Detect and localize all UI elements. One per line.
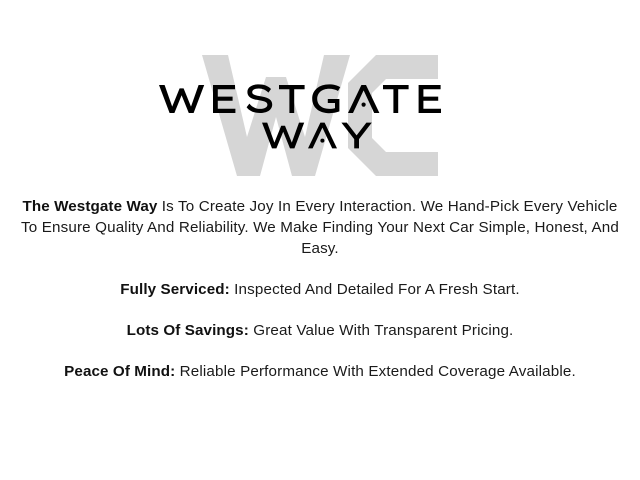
intro-lead: The Westgate Way (22, 198, 157, 215)
feature-peace-of-mind: Peace Of Mind: Reliable Performance With… (20, 361, 620, 382)
feature-text: Great Value With Transparent Pricing. (249, 322, 514, 339)
feature-label: Lots Of Savings: (127, 322, 249, 339)
brand-logo (0, 48, 640, 183)
feature-text: Inspected And Detailed For A Fresh Start… (230, 281, 520, 298)
brand-wordmark-westgate (159, 84, 481, 114)
feature-label: Peace Of Mind: (64, 363, 175, 380)
brand-wordmark-way (262, 122, 378, 149)
feature-label: Fully Serviced: (120, 281, 230, 298)
feature-lots-of-savings: Lots Of Savings: Great Value With Transp… (20, 320, 620, 341)
brand-wordmark (0, 48, 640, 183)
feature-text: Reliable Performance With Extended Cover… (175, 363, 576, 380)
westgate-way-copy: The Westgate Way Is To Create Joy In Eve… (20, 196, 620, 382)
westgate-way-panel: The Westgate Way Is To Create Joy In Eve… (0, 0, 640, 480)
feature-fully-serviced: Fully Serviced: Inspected And Detailed F… (20, 279, 620, 300)
intro-paragraph: The Westgate Way Is To Create Joy In Eve… (20, 196, 620, 259)
